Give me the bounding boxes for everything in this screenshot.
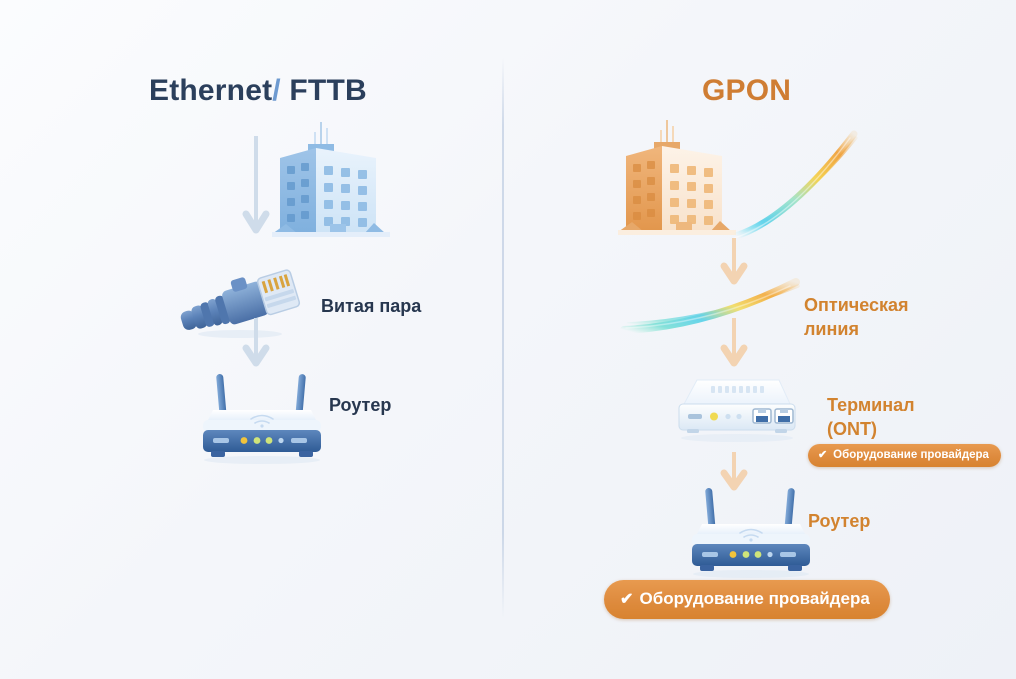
left-title-secondary: FTTB — [289, 74, 366, 107]
right-wifi-router-icon — [678, 486, 824, 578]
left-router-label: Роутер — [329, 394, 391, 418]
left-building-illustration — [272, 122, 390, 244]
left-arrow-cable-to-router — [244, 318, 268, 374]
check-icon: ✔ — [620, 591, 634, 607]
terminal-label: Терминал (ONT) — [827, 394, 915, 442]
left-column-title: Ethernet/ FTTB — [149, 74, 367, 108]
right-router-label: Роутер — [808, 510, 870, 534]
fiber-optic-beam-icon-top — [730, 132, 860, 242]
optical-line-label: Оптическая линия — [804, 294, 909, 342]
left-title-slash: / — [272, 74, 281, 107]
router-provider-badge-label: Оборудование провайдера — [640, 589, 870, 609]
router-provider-badge[interactable]: ✔ Оборудование провайдера — [604, 580, 890, 619]
left-title-main: Ethernet — [149, 74, 272, 107]
terminal-provider-badge[interactable]: ✔ Оборудование провайдера — [808, 444, 1001, 467]
right-arrow-fiber-to-terminal — [722, 318, 746, 374]
right-building-illustration — [618, 120, 736, 242]
twisted-pair-label: Витая пара — [321, 295, 421, 319]
fiber-optic-beam-icon-middle — [620, 278, 800, 338]
diagram-canvas: Ethernet/ FTTB GPON — [0, 0, 1016, 679]
left-arrow-building-to-cable — [244, 136, 268, 242]
left-wifi-router-icon — [189, 372, 335, 464]
column-divider — [502, 58, 504, 618]
right-column-title: GPON — [702, 74, 791, 108]
terminal-provider-badge-label: Оборудование провайдера — [833, 449, 989, 461]
ont-terminal-icon — [671, 374, 805, 444]
check-icon: ✔ — [818, 450, 827, 461]
